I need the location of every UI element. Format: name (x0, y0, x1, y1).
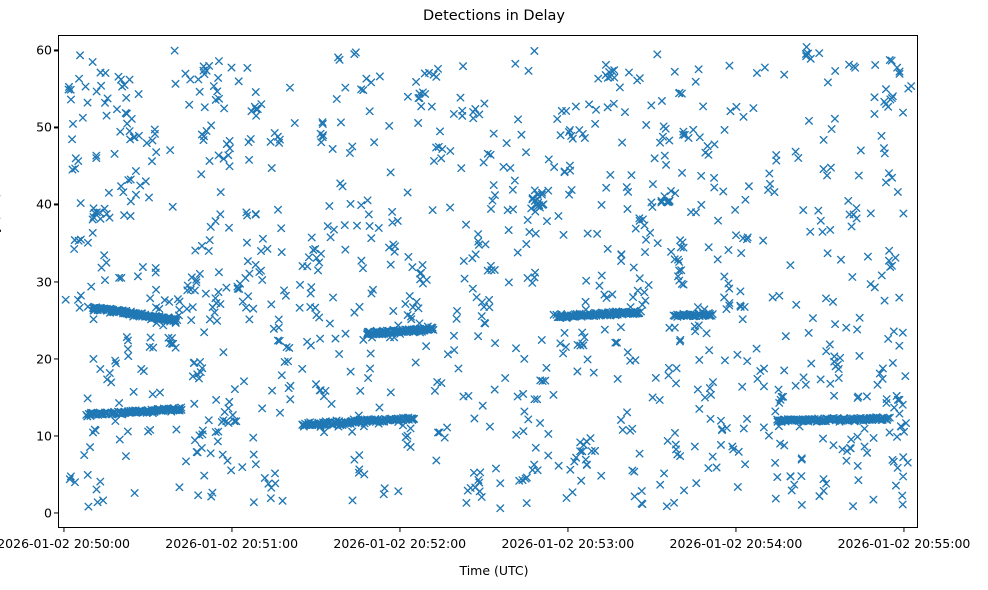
y-tick-label: 20 (4, 351, 52, 366)
x-tick-mark (399, 528, 400, 532)
scatter-markers (62, 44, 914, 512)
y-tick-label: 50 (4, 120, 52, 135)
y-axis-tick-labels: 0102030405060 (0, 0, 52, 590)
x-tick-label: 2026-01-02 20:55:00 (838, 536, 971, 551)
x-tick-mark (735, 528, 736, 532)
scatter-data-layer (59, 36, 917, 527)
y-tick-label: 0 (4, 505, 52, 520)
x-axis-label: Time (UTC) (0, 563, 988, 578)
x-axis-tick-labels: 2026-01-02 20:50:002026-01-02 20:51:0020… (0, 536, 988, 556)
matplotlib-figure: Detections in Delay Bistatic Delay (km) … (0, 0, 988, 590)
page-title: Detections in Delay (0, 8, 988, 24)
plot-axes-frame (58, 35, 918, 528)
y-tick-label: 10 (4, 428, 52, 443)
x-tick-label: 2026-01-02 20:50:00 (0, 536, 130, 551)
x-tick-mark (231, 528, 232, 532)
x-tick-mark (567, 528, 568, 532)
x-tick-mark (903, 528, 904, 532)
x-tick-label: 2026-01-02 20:53:00 (501, 536, 634, 551)
x-axis-tick-marks (0, 528, 988, 534)
x-tick-label: 2026-01-02 20:54:00 (670, 536, 803, 551)
x-tick-label: 2026-01-02 20:52:00 (333, 536, 466, 551)
x-tick-label: 2026-01-02 20:51:00 (165, 536, 298, 551)
y-tick-label: 60 (4, 43, 52, 58)
y-tick-label: 30 (4, 274, 52, 289)
y-tick-label: 40 (4, 197, 52, 212)
x-tick-mark (63, 528, 64, 532)
